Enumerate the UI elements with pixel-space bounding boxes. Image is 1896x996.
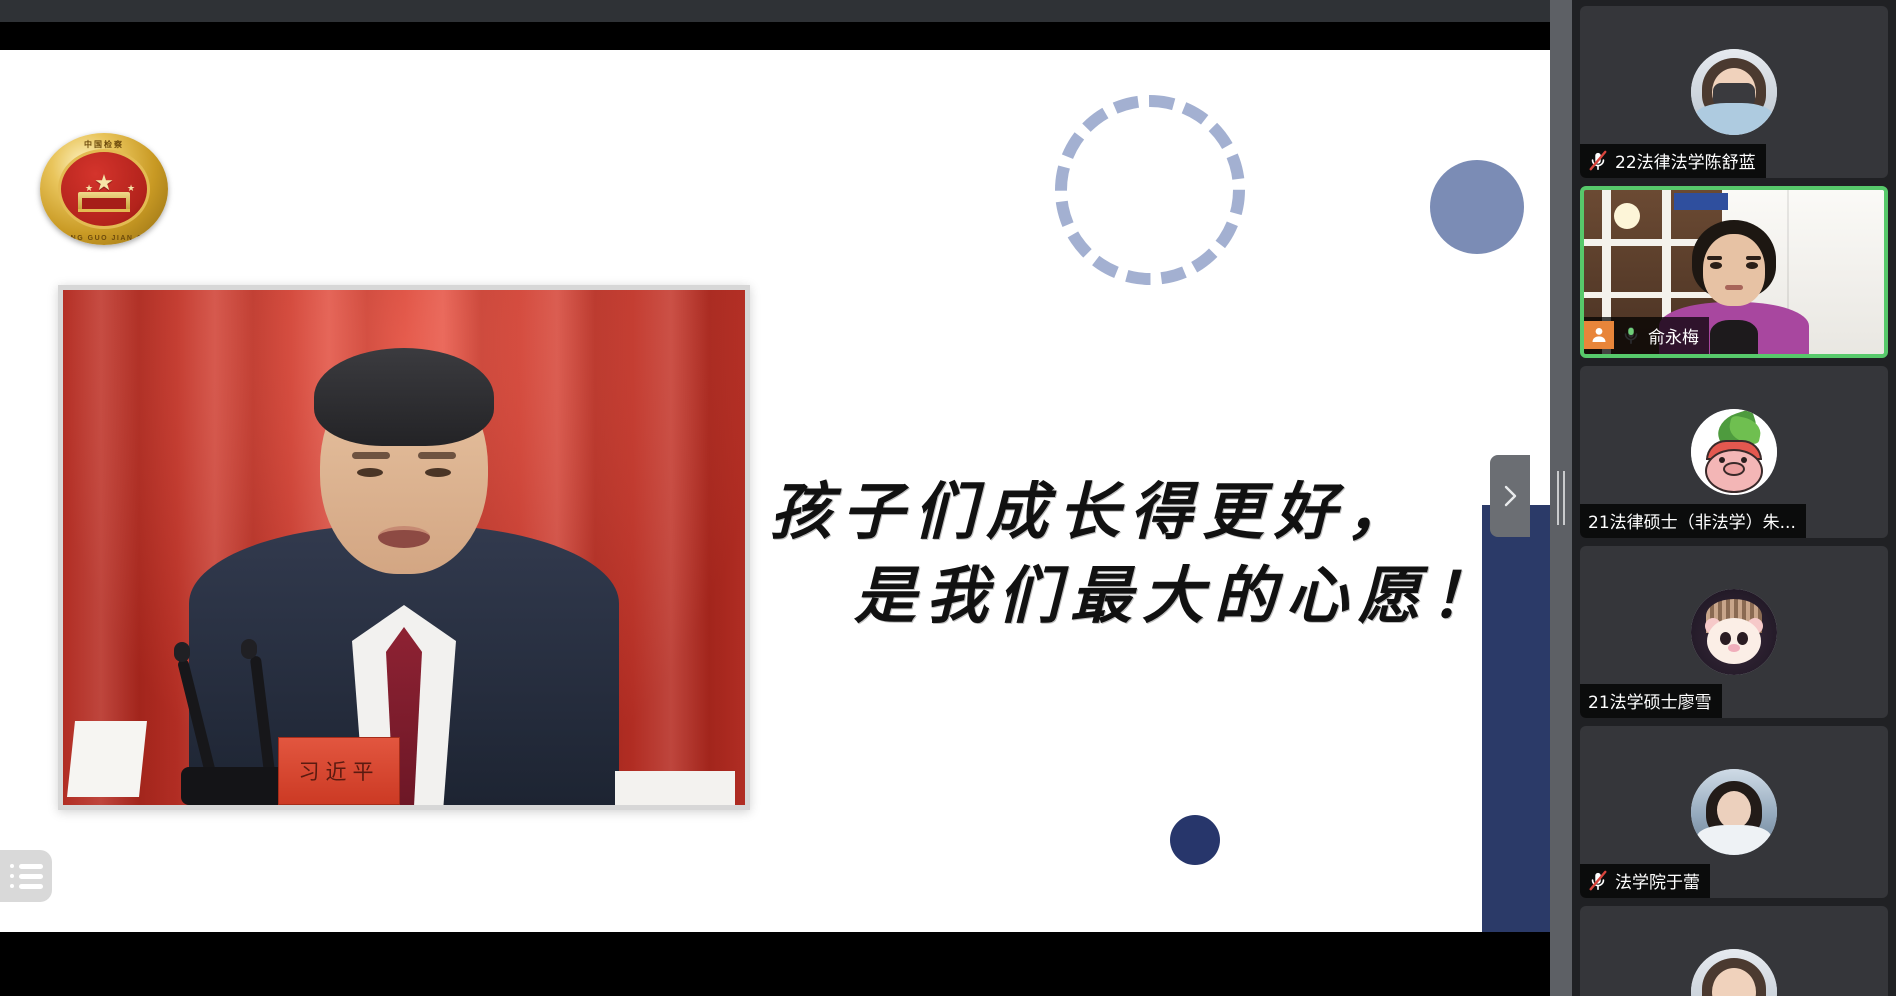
participant-name: 俞永梅 — [1648, 323, 1699, 348]
decorative-circle-navy — [1170, 815, 1220, 865]
participant-name: 21法律硕士（非法学）朱... — [1588, 508, 1796, 533]
microphone-head — [174, 642, 190, 662]
mic-muted-icon — [1588, 150, 1608, 172]
participant-namebar: 法学院于蕾 — [1580, 864, 1710, 898]
avatar — [1691, 769, 1777, 855]
share-top-strip — [0, 0, 1550, 22]
presentation-slide: 中国检察 ★ ★ ★ ★ ★ ZHONG GUO JIAN CHA — [0, 50, 1550, 932]
participant-filmstrip[interactable]: 22法律法学陈舒蓝 — [1572, 0, 1896, 996]
decorative-dashed-circle — [1055, 95, 1245, 285]
participant-namebar: 22法律法学陈舒蓝 — [1580, 144, 1766, 178]
panel-resize-handle[interactable] — [1550, 0, 1572, 996]
list-menu-button[interactable] — [0, 850, 52, 902]
decorative-circle-blue — [1430, 160, 1524, 254]
slide-calligraphy-text: 孩子们成长得更好， 是我们最大的心愿！ — [770, 470, 1510, 637]
participant-tile[interactable]: 21法学硕士廖雪 — [1580, 546, 1888, 718]
paper-stack-right — [615, 771, 735, 805]
participant-name: 法学院于蕾 — [1615, 868, 1700, 893]
figure-eye — [357, 468, 383, 477]
emblem-tiananmen-gate — [78, 192, 130, 212]
avatar — [1691, 949, 1777, 996]
nameplate: 习近平 — [278, 737, 400, 805]
participant-tile-partial[interactable] — [1580, 906, 1888, 996]
emblem-outer-ring: 中国检察 ★ ★ ★ ★ ★ ZHONG GUO JIAN CHA — [40, 133, 168, 245]
paper-stack-left — [67, 721, 147, 797]
avatar — [1691, 49, 1777, 135]
participant-tile[interactable]: 21法律硕士（非法学）朱... — [1580, 366, 1888, 538]
shared-screen-area[interactable]: 中国检察 ★ ★ ★ ★ ★ ZHONG GUO JIAN CHA — [0, 0, 1550, 996]
participant-tile[interactable]: 法学院于蕾 — [1580, 726, 1888, 898]
china-procuratorate-emblem: 中国检察 ★ ★ ★ ★ ★ ZHONG GUO JIAN CHA — [30, 125, 178, 253]
figure-eyebrow — [418, 452, 456, 459]
figure-mouth — [378, 526, 430, 548]
emblem-red-disc: ★ ★ ★ ★ ★ — [58, 149, 150, 229]
participant-tile[interactable]: 22法律法学陈舒蓝 — [1580, 6, 1888, 178]
participant-tile-active-speaker[interactable]: 俞永梅 — [1580, 186, 1888, 358]
participant-name: 21法学硕士廖雪 — [1588, 688, 1712, 713]
participant-name: 22法律法学陈舒蓝 — [1615, 148, 1756, 173]
calligraphy-line-1: 孩子们成长得更好， — [770, 470, 1510, 554]
slide-photo: 习近平 — [58, 285, 750, 810]
avatar — [1691, 409, 1777, 495]
person-icon — [1590, 326, 1608, 344]
avatar — [1691, 589, 1777, 675]
emblem-bottom-text: ZHONG GUO JIAN CHA — [40, 235, 168, 242]
participant-namebar: 俞永梅 — [1584, 317, 1709, 354]
participant-namebar: 21法律硕士（非法学）朱... — [1580, 504, 1806, 538]
mic-on-icon — [1621, 324, 1641, 346]
figure-eyebrow — [352, 452, 390, 459]
microphone-head — [241, 639, 257, 659]
mic-muted-icon — [1588, 870, 1608, 892]
calligraphy-line-2: 是我们最大的心愿！ — [770, 554, 1510, 638]
host-badge — [1584, 321, 1614, 349]
list-icon — [10, 864, 43, 889]
meeting-window: 中国检察 ★ ★ ★ ★ ★ ZHONG GUO JIAN CHA — [0, 0, 1896, 996]
chevron-right-icon — [1500, 483, 1520, 509]
figure-hair — [314, 348, 494, 446]
figure-eye — [425, 468, 451, 477]
participant-namebar: 21法学硕士廖雪 — [1580, 684, 1722, 718]
drag-grip-icon — [1557, 471, 1565, 525]
collapse-panel-button[interactable] — [1490, 455, 1530, 537]
nameplate-text: 习近平 — [299, 756, 380, 786]
emblem-big-star: ★ — [94, 172, 114, 194]
